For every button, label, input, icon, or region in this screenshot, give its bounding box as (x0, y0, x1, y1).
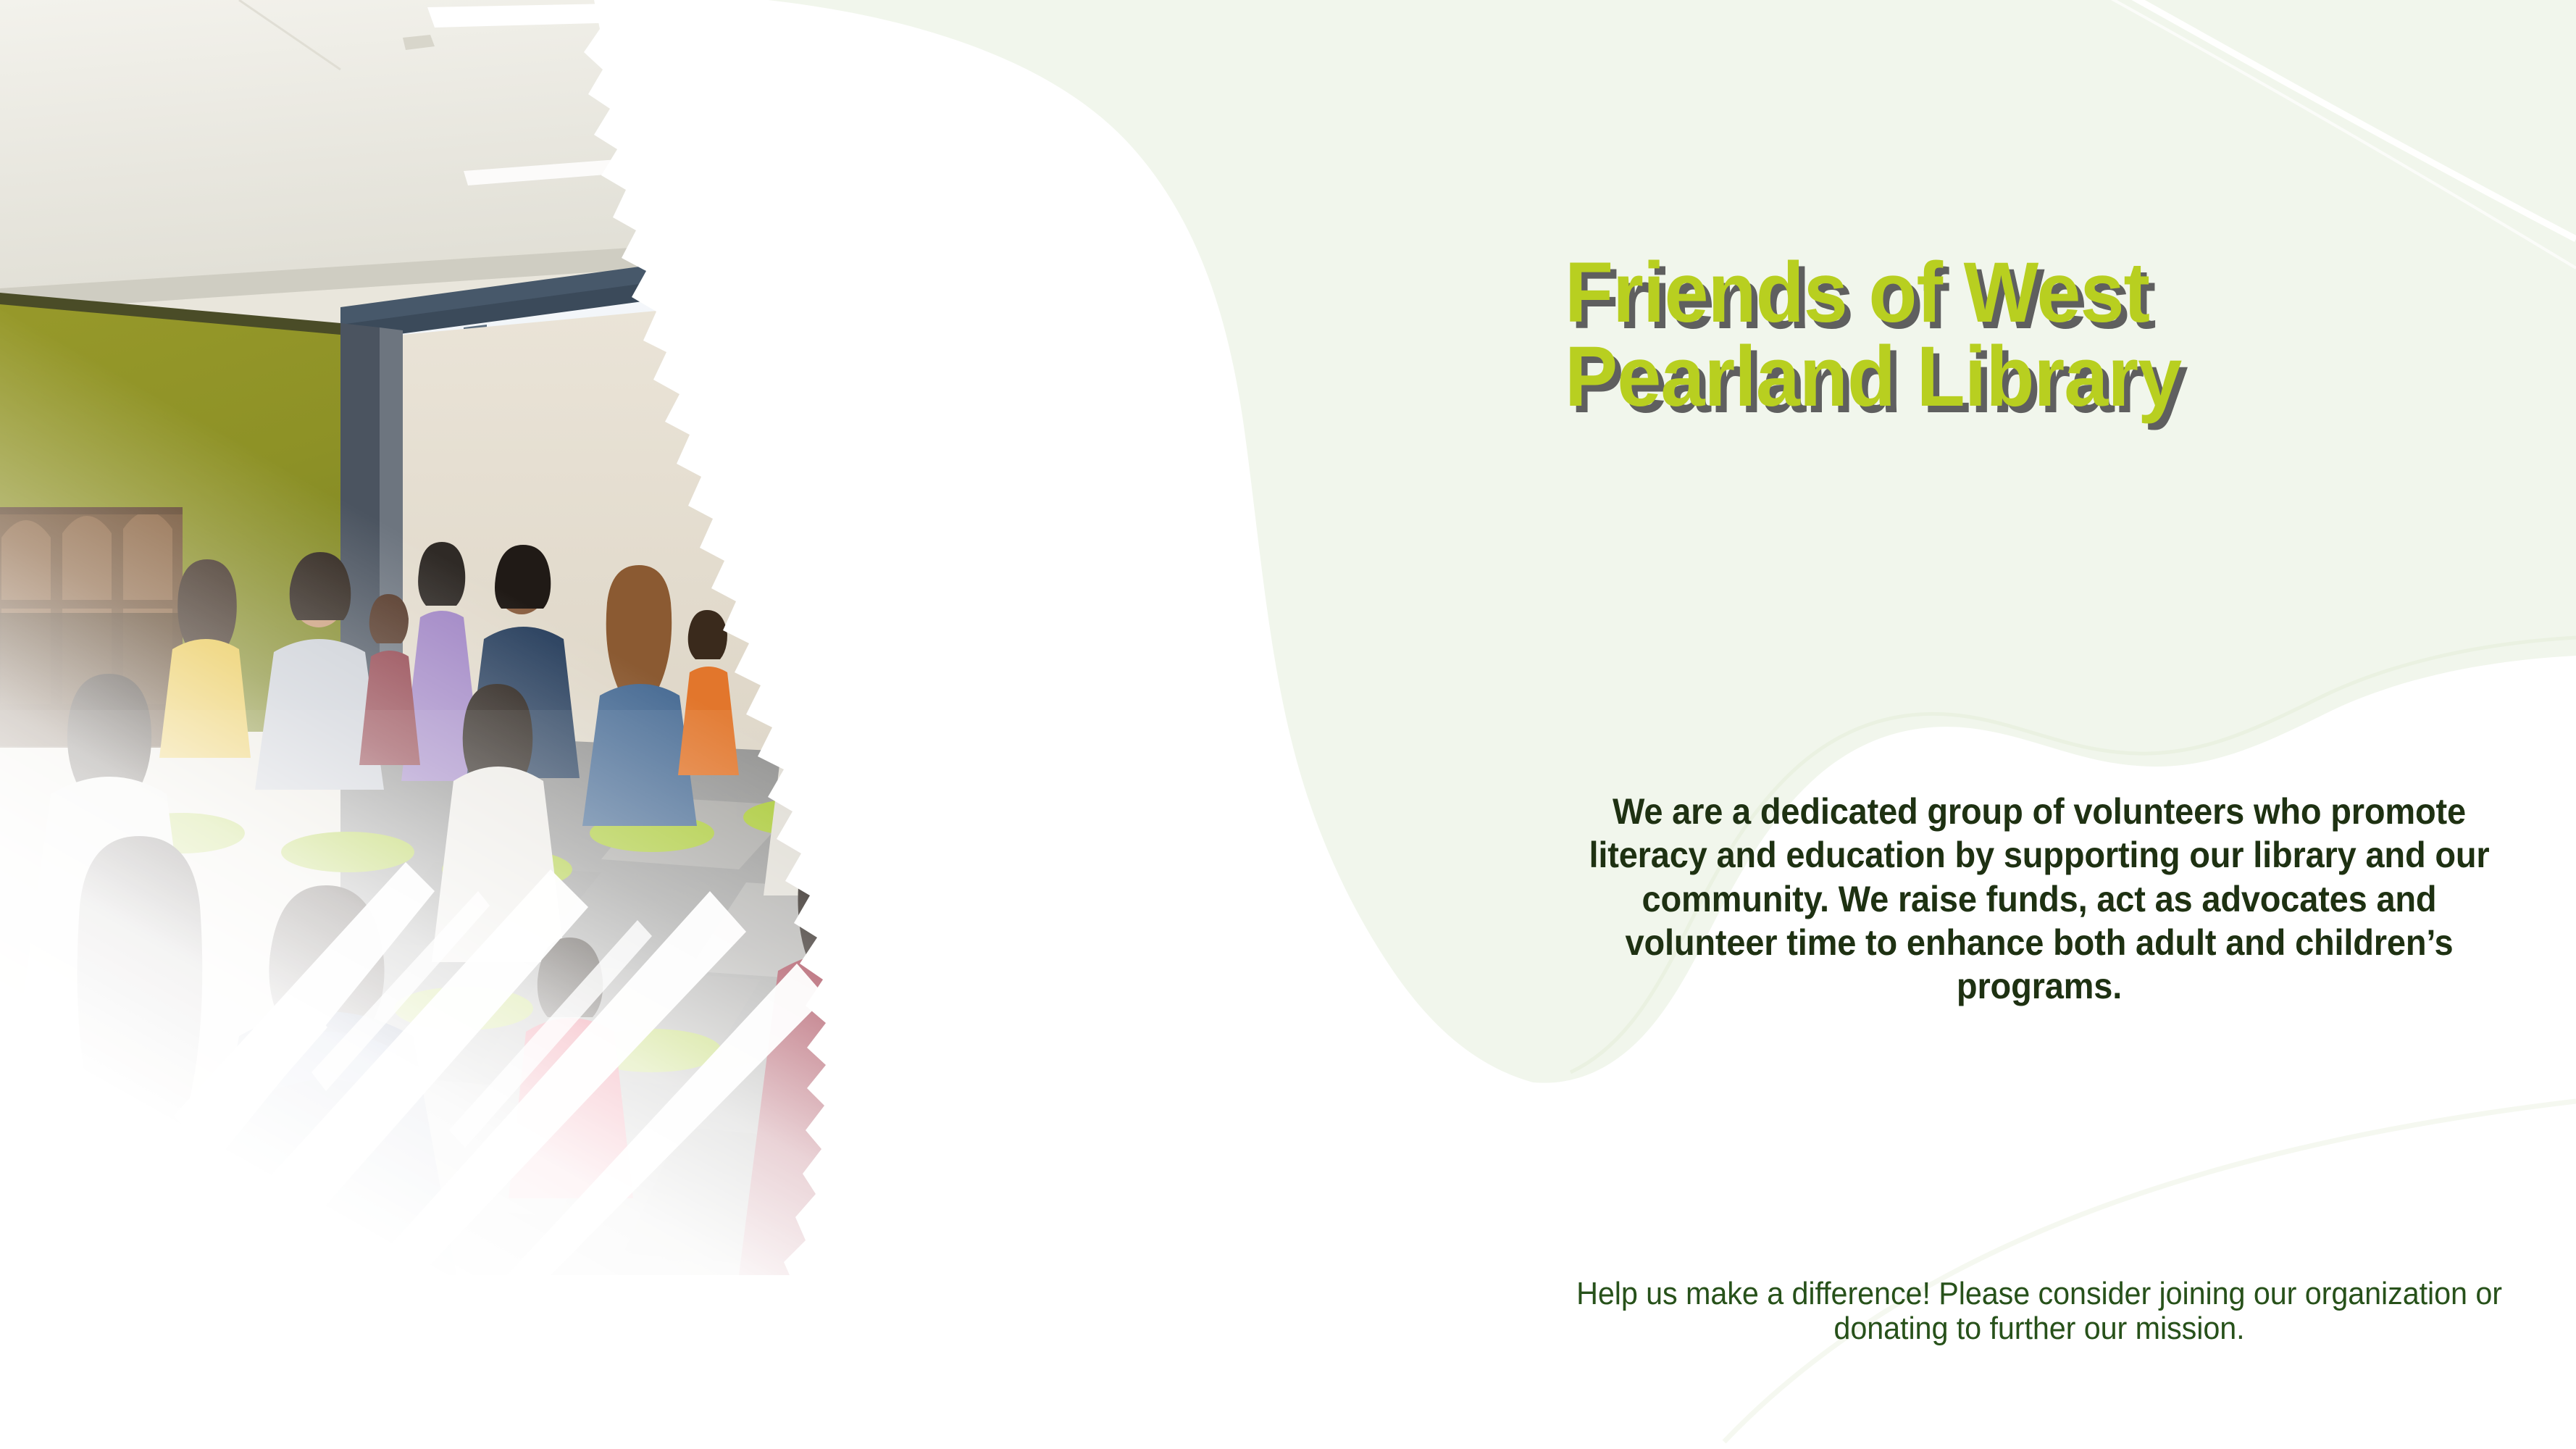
picture-book (791, 429, 849, 491)
screen-text-line1: Time For a (1011, 335, 1163, 371)
presenter-table (919, 519, 1221, 653)
ceiling (0, 0, 1420, 312)
mission-statement: We are a dedicated group of volunteers w… (1566, 790, 2513, 1008)
screen-cloud (932, 270, 1240, 456)
call-to-action-text: Help us make a difference! Please consid… (1566, 1277, 2513, 1347)
dark-bag (988, 1023, 1084, 1090)
screen-cable (1136, 464, 1159, 593)
presenter-with-book (790, 338, 926, 736)
wall-mounted-display-screen: Time For a Book! (904, 270, 1246, 593)
table-items (1079, 481, 1192, 523)
story-time-photo: Time For a Book! (0, 0, 1420, 1275)
wall-plates (1279, 438, 1352, 474)
text-column: Friends of West Pearland Library We are … (1529, 0, 2543, 1449)
orange-backpack (920, 904, 1021, 980)
screen-text-line2: Book! (1044, 375, 1129, 412)
page-title: Friends of West Pearland Library (1565, 251, 2441, 419)
story-time-photo-svg: Time For a Book! (0, 0, 1420, 1275)
laptop-on-table (992, 461, 1079, 523)
slide-root: Time For a Book! (0, 0, 2576, 1449)
